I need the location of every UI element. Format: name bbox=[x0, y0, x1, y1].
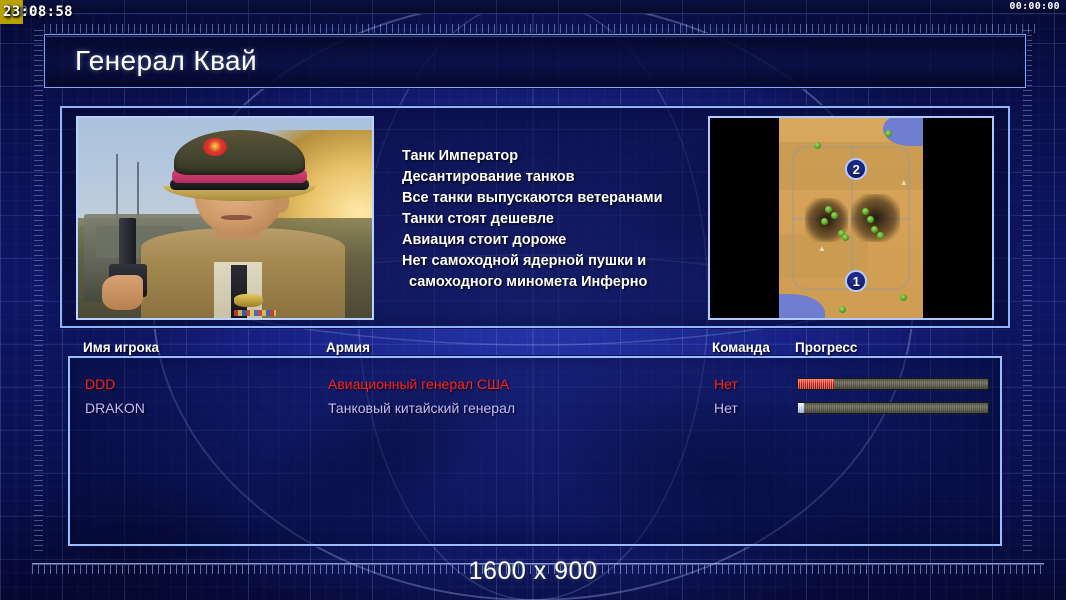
player-list-panel: DDDАвиационный генерал СШАНетDRAKONТанко… bbox=[68, 356, 1002, 546]
ruler-left bbox=[34, 30, 43, 555]
ruler-top bbox=[44, 24, 1040, 33]
player-team: Нет bbox=[714, 372, 738, 396]
map-terrain-dark bbox=[851, 194, 900, 242]
resolution-label: 1600 x 900 bbox=[0, 557, 1066, 586]
progress-fill bbox=[798, 403, 804, 413]
map-tree-icon bbox=[839, 306, 846, 313]
description-line: Все танки выпускаются ветеранами bbox=[402, 188, 732, 209]
status-bar-grid bbox=[0, 0, 1066, 13]
player-row[interactable]: DDDАвиационный генерал СШАНет bbox=[70, 372, 1000, 396]
general-cap bbox=[174, 130, 305, 175]
description-line: Десантирование танков bbox=[402, 167, 732, 188]
player-army: Танковый китайский генерал bbox=[328, 396, 515, 420]
player-rows: DDDАвиационный генерал СШАНетDRAKONТанко… bbox=[70, 372, 1000, 420]
map-tree-icon bbox=[867, 216, 874, 223]
player-list-headers: Имя игрока Армия Команда Прогресс bbox=[68, 340, 1002, 358]
description-line: Авиация стоит дороже bbox=[402, 230, 732, 251]
description-line: Нет самоходной ядерной пушки и bbox=[402, 251, 732, 272]
map-tree-icon bbox=[814, 142, 821, 149]
player-row[interactable]: DRAKONТанковый китайский генералНет bbox=[70, 396, 1000, 420]
description-line: Танки стоят дешевле bbox=[402, 209, 732, 230]
map-water bbox=[779, 294, 825, 318]
progress-fill bbox=[798, 379, 834, 389]
player-progress-bar bbox=[797, 378, 989, 390]
column-header-name: Имя игрока bbox=[83, 340, 159, 355]
general-description-list: Танк Император Десантирование танков Все… bbox=[402, 146, 732, 293]
description-line: самоходного миномета Инферно bbox=[402, 272, 732, 293]
title-panel: Генерал Квай bbox=[44, 34, 1026, 88]
map-preview: 21 bbox=[779, 118, 923, 318]
general-portrait bbox=[76, 116, 374, 320]
general-hand bbox=[102, 275, 143, 310]
top-status-bar: UR 30 32 [300] 23:08:58 00:00:00 bbox=[0, 0, 1066, 14]
map-tree-icon bbox=[831, 212, 838, 219]
progress-track bbox=[797, 378, 989, 390]
column-header-progress: Прогресс bbox=[795, 340, 857, 355]
general-figure bbox=[149, 130, 331, 318]
column-header-team: Команда bbox=[712, 340, 770, 355]
map-tree-icon bbox=[877, 232, 884, 239]
progress-track bbox=[797, 402, 989, 414]
map-preview-frame[interactable]: 21 bbox=[708, 116, 994, 320]
player-progress-bar bbox=[797, 402, 989, 414]
player-name: DDD bbox=[85, 372, 115, 396]
map-tree-icon bbox=[900, 294, 907, 301]
player-army: Авиационный генерал США bbox=[328, 372, 509, 396]
general-badge bbox=[234, 294, 263, 307]
player-team: Нет bbox=[714, 396, 738, 420]
page-title: Генерал Квай bbox=[75, 45, 257, 77]
map-tree-icon bbox=[821, 218, 828, 225]
player-name: DRAKON bbox=[85, 396, 145, 420]
status-right-clock: 00:00:00 bbox=[1009, 2, 1066, 12]
title-panel-highlight bbox=[46, 36, 1024, 37]
general-mouth bbox=[221, 215, 252, 221]
ruler-right bbox=[1023, 30, 1032, 555]
game-lobby-screen: UR 30 32 [300] 23:08:58 00:00:00 Генерал… bbox=[0, 0, 1066, 600]
general-info-panel: Танк Император Десантирование танков Все… bbox=[60, 106, 1010, 328]
general-cap-emblem bbox=[203, 138, 227, 157]
status-clock: 23:08:58 bbox=[0, 0, 76, 24]
general-pistol bbox=[99, 218, 158, 310]
general-ribbons bbox=[234, 310, 276, 317]
column-header-army: Армия bbox=[326, 340, 370, 355]
description-line: Танк Император bbox=[402, 146, 732, 167]
